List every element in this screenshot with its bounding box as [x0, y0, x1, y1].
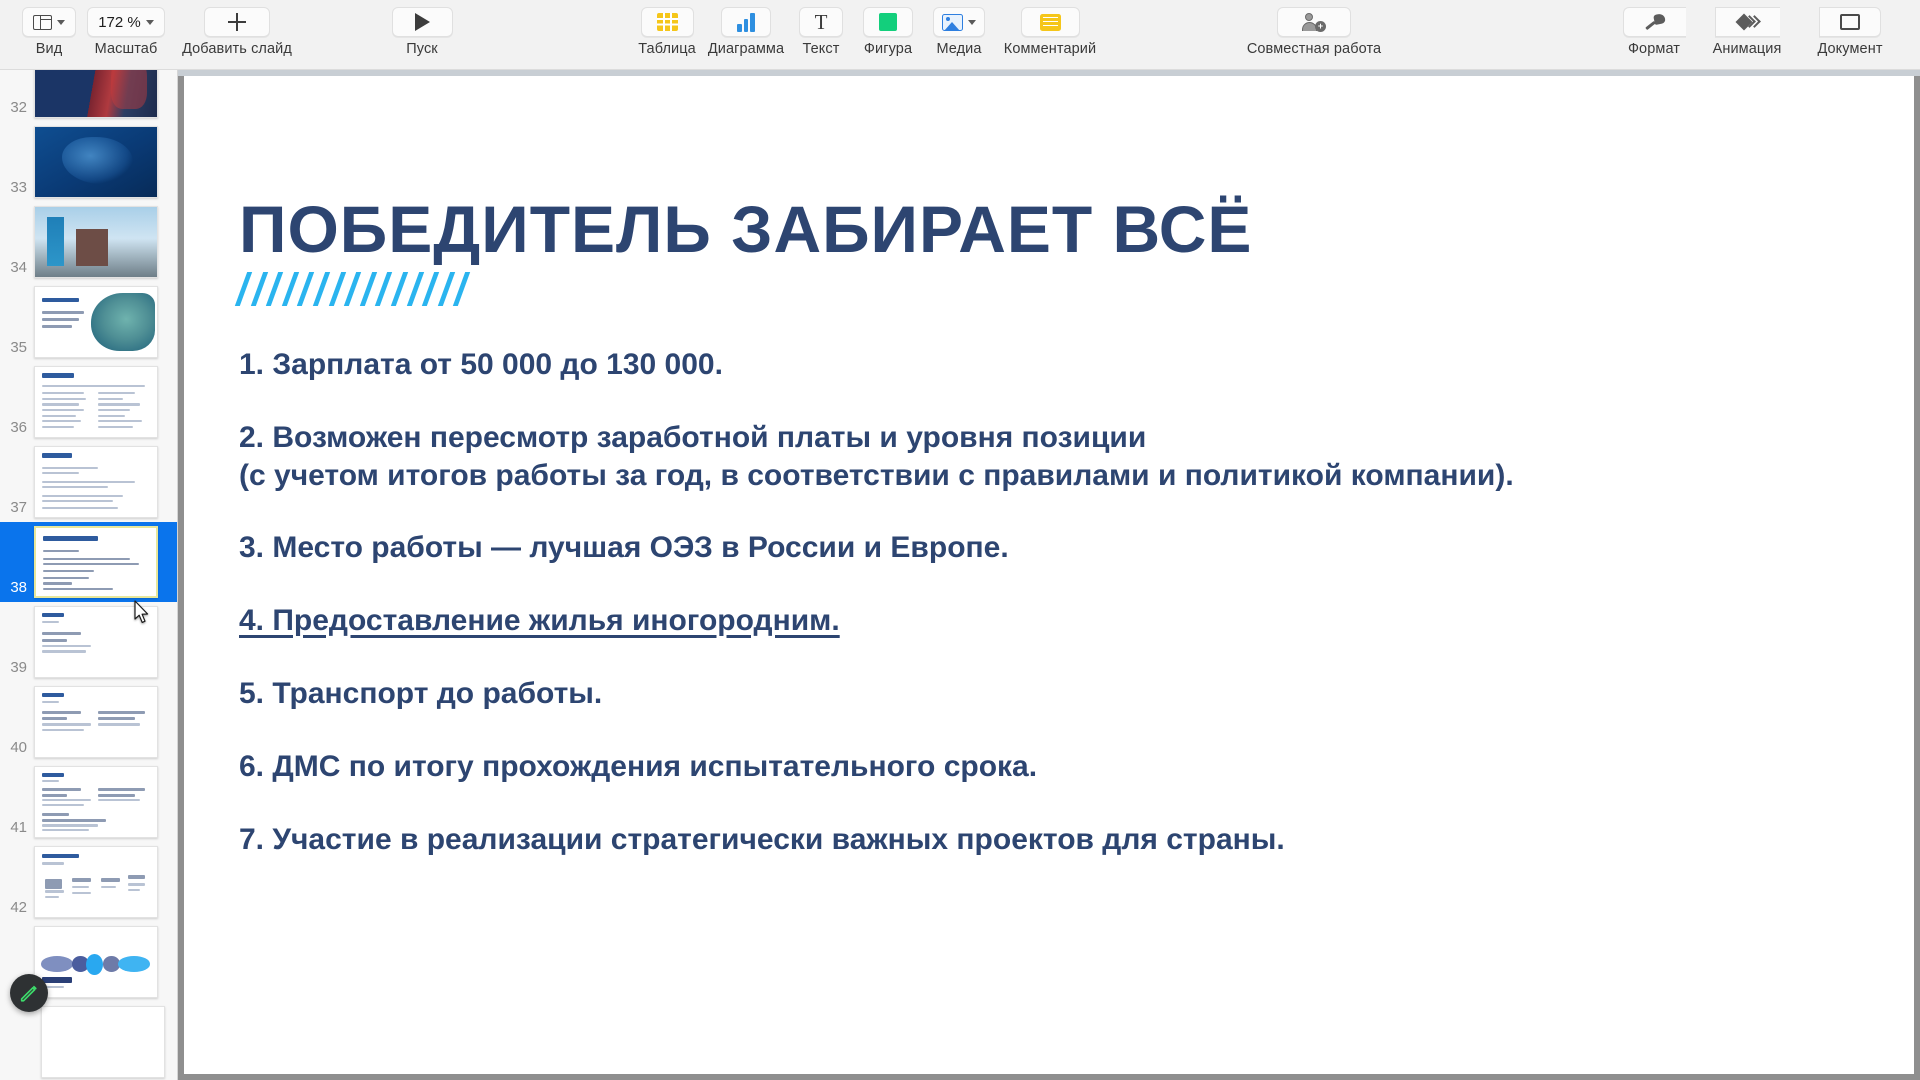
zoom-button-surface[interactable]: 172 % — [87, 7, 165, 37]
item-text: 2. Возможен пересмотр заработной платы и… — [239, 421, 1146, 454]
slide-thumbnail-32[interactable]: 32 — [0, 70, 177, 122]
format-label: Формат — [1628, 41, 1680, 57]
insert-chart-surface[interactable] — [721, 7, 771, 37]
collaborate-surface[interactable]: + — [1277, 7, 1351, 37]
toolbar-right-group: Формат Анимация Документ — [1612, 0, 1902, 57]
thumbnail-image[interactable] — [34, 606, 158, 678]
item-text: 7. Участие в реализации стратегически ва… — [239, 823, 1285, 856]
slide-thumbnail-42[interactable]: 42 — [0, 842, 177, 922]
insert-comment-button[interactable]: Комментарий — [994, 0, 1106, 57]
format-button[interactable]: Формат — [1612, 0, 1696, 57]
animation-diamond-icon — [1736, 13, 1760, 31]
person-add-icon: + — [1302, 13, 1326, 32]
thumbnail-image[interactable] — [41, 1006, 165, 1078]
slide-number: 34 — [0, 259, 34, 278]
slide-thumbnail-37[interactable]: 37 — [0, 442, 177, 522]
view-button-surface[interactable] — [22, 7, 76, 37]
slide-title[interactable]: ПОБЕДИТЕЛЬ ЗАБИРАЕТ ВСЁ — [239, 191, 1253, 267]
document-rect-icon — [1840, 14, 1860, 30]
toolbar-collaborate-group: + Совместная работа — [1234, 0, 1394, 57]
chevron-down-icon — [146, 20, 154, 25]
slide-number: 40 — [0, 739, 34, 758]
thumbnail-image[interactable] — [34, 926, 158, 998]
slide-number: 33 — [0, 179, 34, 198]
view-label: Вид — [36, 41, 63, 57]
play-button[interactable]: Пуск — [382, 0, 462, 57]
pencil-icon — [18, 982, 40, 1004]
zoom-button[interactable]: 172 % Масштаб — [80, 0, 172, 57]
add-slide-button-surface[interactable] — [204, 7, 270, 37]
slide-thumbnail-40[interactable]: 40 — [0, 682, 177, 762]
slide-canvas-area[interactable]: ПОБЕДИТЕЛЬ ЗАБИРАЕТ ВСЁ 1. Зарплата от 5… — [178, 70, 1920, 1080]
insert-table-button[interactable]: Таблица — [632, 0, 702, 57]
animation-surface[interactable] — [1715, 7, 1780, 37]
slide-navigator[interactable]: 32 33 34 35 36 — [0, 70, 178, 1080]
slide-list-item-3: 3. Место работы — лучшая ОЭЗ в России и … — [239, 529, 1874, 567]
item-text: 4. Предоставление жилья иногородним. — [239, 604, 840, 637]
slide-number: 35 — [0, 339, 34, 358]
insert-media-label: Медиа — [936, 41, 981, 57]
thumbnail-image[interactable] — [34, 846, 158, 918]
plus-icon — [227, 12, 247, 32]
add-slide-label: Добавить слайд — [182, 41, 292, 57]
insert-shape-surface[interactable] — [863, 7, 913, 37]
edit-fab-button[interactable] — [10, 974, 48, 1012]
slide-list-item-6: 6. ДМС по итогу прохождения испытательно… — [239, 748, 1874, 786]
view-button[interactable]: Вид — [18, 0, 80, 57]
slide-number: 39 — [0, 659, 34, 678]
item-text: 3. Место работы — лучшая ОЭЗ в России и … — [239, 531, 1009, 564]
slide-number: 32 — [0, 99, 34, 118]
diagonal-slashes-decoration — [241, 272, 464, 306]
insert-table-label: Таблица — [638, 41, 696, 57]
note-icon — [1040, 14, 1061, 31]
play-icon — [415, 13, 430, 31]
photo-icon — [942, 14, 963, 31]
thumbnail-image[interactable] — [34, 366, 158, 438]
slide-list-item-5: 5. Транспорт до работы. — [239, 675, 1874, 713]
toolbar-insert-group: Таблица Диаграмма T Текст Фигура — [632, 0, 1106, 57]
insert-table-surface[interactable] — [641, 7, 694, 37]
slide-thumbnail-39[interactable]: 39 — [0, 602, 177, 682]
item-text: 1. Зарплата от 50 000 до 130 000. — [239, 348, 723, 381]
item-subtext: (с учетом итогов работы за год, в соотве… — [239, 457, 1874, 495]
text-t-icon: T — [815, 13, 828, 32]
thumbnail-image[interactable] — [34, 286, 158, 358]
view-icon — [33, 15, 52, 30]
insert-chart-button[interactable]: Диаграмма — [702, 0, 790, 57]
play-button-surface[interactable] — [392, 7, 453, 37]
table-icon — [657, 13, 678, 31]
animation-label: Анимация — [1713, 41, 1782, 57]
document-surface[interactable] — [1819, 7, 1881, 37]
item-text: 5. Транспорт до работы. — [239, 677, 602, 710]
slide-number: 42 — [0, 899, 34, 918]
insert-media-button[interactable]: Медиа — [924, 0, 994, 57]
slide-list-item-4: 4. Предоставление жилья иногородним. — [239, 602, 1874, 640]
thumbnail-image[interactable] — [34, 126, 158, 198]
insert-text-surface[interactable]: T — [799, 7, 844, 37]
square-shape-icon — [879, 13, 897, 31]
slide-thumbnail-41[interactable]: 41 — [0, 762, 177, 842]
slide-number: 38 — [0, 579, 34, 598]
play-label: Пуск — [406, 41, 438, 57]
thumbnail-image[interactable] — [34, 526, 158, 598]
toolbar-left-group: Вид 172 % Масштаб Добавить слайд — [18, 0, 302, 57]
collaborate-button[interactable]: + Совместная работа — [1234, 0, 1394, 57]
animation-button[interactable]: Анимация — [1696, 0, 1798, 57]
slide-thumbnail-35[interactable]: 35 — [0, 282, 177, 362]
thumbnail-image[interactable] — [34, 206, 158, 278]
slide-number: 41 — [0, 819, 34, 838]
insert-chart-label: Диаграмма — [708, 41, 784, 57]
thumbnail-image[interactable] — [34, 766, 158, 838]
document-label: Документ — [1817, 41, 1882, 57]
slide-thumbnail-36[interactable]: 36 — [0, 362, 177, 442]
insert-shape-button[interactable]: Фигура — [852, 0, 924, 57]
item-text: 6. ДМС по итогу прохождения испытательно… — [239, 750, 1037, 783]
slide-body-text[interactable]: 1. Зарплата от 50 000 до 130 000. 2. Воз… — [239, 346, 1874, 858]
slide-list-item-1: 1. Зарплата от 50 000 до 130 000. — [239, 346, 1874, 384]
chevron-down-icon — [57, 20, 65, 25]
zoom-label: Масштаб — [95, 41, 158, 57]
main-toolbar: Вид 172 % Масштаб Добавить слайд Пуск — [0, 0, 1920, 70]
slide-thumbnail-38[interactable]: 38 — [0, 522, 177, 602]
bar-chart-icon — [737, 13, 755, 32]
add-slide-button[interactable]: Добавить слайд — [172, 0, 302, 57]
collaborate-label: Совместная работа — [1247, 41, 1381, 57]
slide-number: 37 — [0, 499, 34, 518]
chevron-down-icon — [968, 20, 976, 25]
insert-comment-surface[interactable] — [1021, 7, 1080, 37]
slide-thumbnail-33[interactable]: 33 — [0, 122, 177, 202]
slide-list-item-2: 2. Возможен пересмотр заработной платы и… — [239, 419, 1874, 495]
zoom-value: 172 % — [98, 14, 141, 31]
document-button[interactable]: Документ — [1798, 0, 1902, 57]
thumbnail-image[interactable] — [34, 686, 158, 758]
paintbrush-icon — [1644, 13, 1666, 32]
slide-list-item-7: 7. Участие в реализации стратегически ва… — [239, 821, 1874, 859]
insert-shape-label: Фигура — [864, 41, 912, 57]
thumbnail-image[interactable] — [34, 446, 158, 518]
thumbnail-image[interactable] — [34, 70, 158, 118]
slide-number: 36 — [0, 419, 34, 438]
insert-media-surface[interactable] — [933, 7, 985, 37]
format-surface[interactable] — [1623, 7, 1686, 37]
insert-text-button[interactable]: T Текст — [790, 0, 852, 57]
insert-comment-label: Комментарий — [1004, 41, 1096, 57]
insert-text-label: Текст — [802, 41, 839, 57]
toolbar-play-group: Пуск — [382, 0, 462, 57]
slide-thumbnail-34[interactable]: 34 — [0, 202, 177, 282]
current-slide[interactable]: ПОБЕДИТЕЛЬ ЗАБИРАЕТ ВСЁ 1. Зарплата от 5… — [184, 76, 1914, 1074]
slide-thumbnail-44[interactable] — [0, 1002, 177, 1080]
